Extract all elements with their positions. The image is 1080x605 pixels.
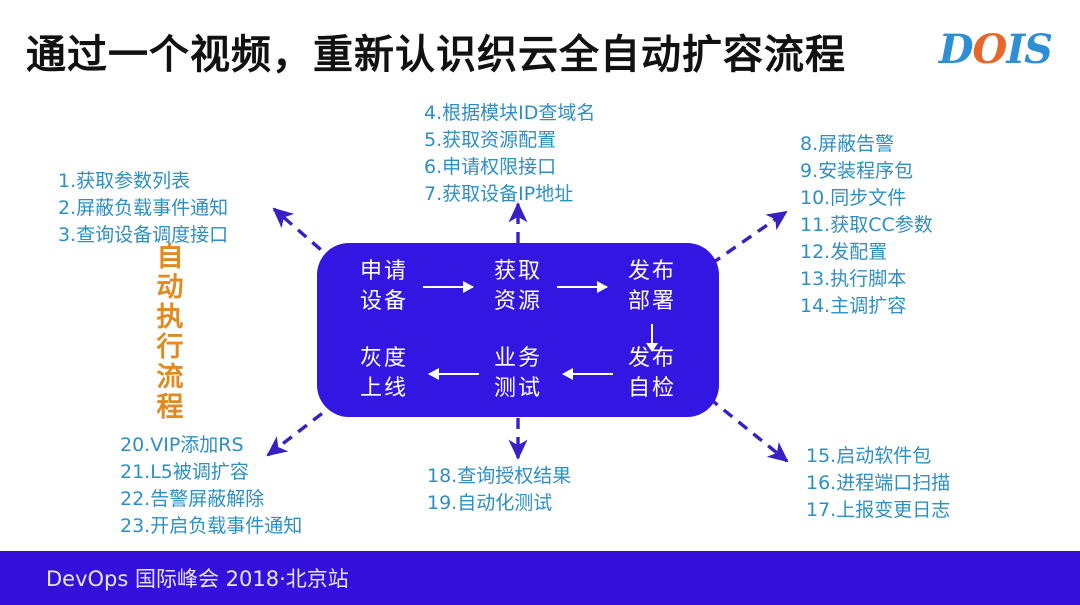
list-item: 5.获取资源配置: [424, 127, 595, 154]
auto-execution-flow-label: 自 动 执 行 流 程: [152, 243, 188, 423]
logo-letter-o: O: [973, 26, 1007, 73]
steps-18-19-list: 18.查询授权结果 19.自动化测试: [427, 463, 571, 517]
page-title: 通过一个视频，重新认识织云全自动扩容流程: [26, 22, 846, 80]
steps-8-14-list: 8.屏蔽告警 9.安装程序包 10.同步文件 11.获取CC参数 12.发配置 …: [800, 131, 933, 320]
list-item: 4.根据模块ID查域名: [424, 100, 595, 127]
list-item: 19.自动化测试: [427, 490, 571, 517]
flow-step-apply-device: 申请 设备: [317, 243, 451, 330]
list-item: 17.上报变更日志: [806, 497, 950, 524]
list-item: 11.获取CC参数: [800, 212, 933, 239]
list-item: 22.告警屏蔽解除: [120, 486, 302, 513]
vlabel-char: 执: [152, 303, 188, 333]
steps-1-3-list: 1.获取参数列表 2.屏蔽负载事件通知 3.查询设备调度接口: [58, 168, 228, 249]
core-flow-box: 申请 设备 获取 资源 发布 部署 灰度 上线 业务 测试 发布 自检: [317, 243, 719, 417]
vlabel-char: 程: [152, 393, 188, 423]
vlabel-char: 动: [152, 273, 188, 303]
arrow-to-steps-8-14: [711, 212, 786, 264]
list-item: 21.L5被调扩容: [120, 459, 302, 486]
list-item: 12.发配置: [800, 239, 933, 266]
list-item: 23.开启负载事件通知: [120, 513, 302, 540]
list-item: 14.主调扩容: [800, 293, 933, 320]
logo-letter-is: IS: [1006, 26, 1052, 73]
slide-canvas: 通过一个视频，重新认识织云全自动扩容流程 DOIS 1.获取参数列表 2.屏蔽负…: [0, 0, 1080, 605]
list-item: 1.获取参数列表: [58, 168, 228, 195]
dois-logo: DOIS: [939, 26, 1052, 73]
footer-bar: DevOps 国际峰会 2018·北京站: [0, 551, 1080, 605]
steps-15-17-list: 15.启动软件包 16.进程端口扫描 17.上报变更日志: [806, 443, 950, 524]
footer-text: DevOps 国际峰会 2018·北京站: [46, 563, 349, 593]
list-item: 9.安装程序包: [800, 158, 933, 185]
vlabel-char: 流: [152, 363, 188, 393]
flow-arrow-left-icon: [563, 373, 613, 375]
list-item: 7.获取设备IP地址: [424, 181, 595, 208]
list-item: 8.屏蔽告警: [800, 131, 933, 158]
list-item: 3.查询设备调度接口: [58, 222, 228, 249]
list-item: 13.执行脚本: [800, 266, 933, 293]
vlabel-char: 自: [152, 243, 188, 273]
list-item: 20.VIP添加RS: [120, 432, 302, 459]
flow-step-publish-deploy: 发布 部署: [585, 243, 719, 330]
list-item: 2.屏蔽负载事件通知: [58, 195, 228, 222]
list-item: 10.同步文件: [800, 185, 933, 212]
list-item: 16.进程端口扫描: [806, 470, 950, 497]
list-item: 18.查询授权结果: [427, 463, 571, 490]
steps-20-23-list: 20.VIP添加RS 21.L5被调扩容 22.告警屏蔽解除 23.开启负载事件…: [120, 432, 302, 540]
arrow-to-steps-15-17: [709, 398, 787, 461]
list-item: 6.申请权限接口: [424, 154, 595, 181]
steps-4-7-list: 4.根据模块ID查域名 5.获取资源配置 6.申请权限接口 7.获取设备IP地址: [424, 100, 595, 208]
flow-arrow-left-icon: [429, 373, 479, 375]
list-item: 15.启动软件包: [806, 443, 950, 470]
flow-step-publish-check: 发布 自检: [585, 330, 719, 417]
flow-step-get-resource: 获取 资源: [451, 243, 585, 330]
logo-letter-d: D: [939, 26, 973, 73]
vlabel-char: 行: [152, 333, 188, 363]
